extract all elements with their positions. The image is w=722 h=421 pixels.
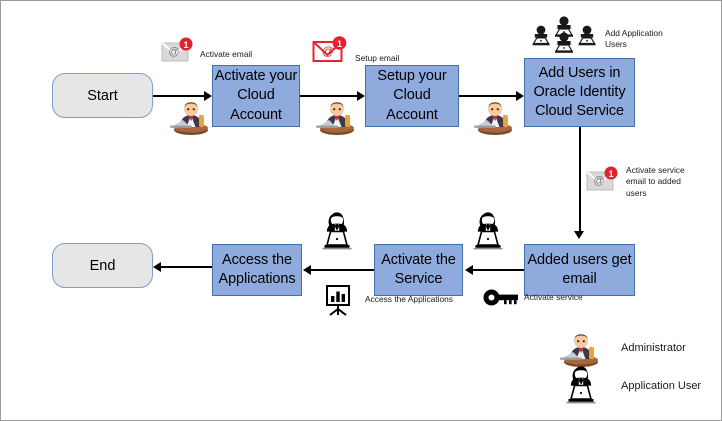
annotation-setup-email-label: Setup email xyxy=(355,53,399,64)
legend-administrator-label: Administrator xyxy=(621,342,686,354)
connector-added-email-to-activate-service xyxy=(473,269,524,271)
application-user-icon-2 xyxy=(468,209,508,251)
svg-text:1: 1 xyxy=(337,39,342,49)
svg-text:@: @ xyxy=(593,175,604,187)
application-user-icon-1 xyxy=(317,209,357,251)
node-access-the-applications-label: Access the Applications xyxy=(213,251,301,289)
annotation-activate-service-email-label: Activate service email to added users xyxy=(626,165,685,199)
node-activate-cloud-account-label: Activate your Cloud Account xyxy=(213,67,299,124)
flowchart-canvas: Start Activate your Cloud Account Setup … xyxy=(0,0,722,421)
node-activate-cloud-account[interactable]: Activate your Cloud Account xyxy=(212,65,300,127)
node-start-label: Start xyxy=(87,88,118,104)
node-activate-the-service-label: Activate the Service xyxy=(375,251,462,289)
envelope-red-badge-icon: @ 1 xyxy=(312,35,348,63)
envelope-grey-badge-icon: @ 1 xyxy=(161,37,195,63)
arrowhead-access-apps-to-end xyxy=(153,262,161,272)
node-added-users-get-email[interactable]: Added users get email xyxy=(524,244,635,296)
annotation-access-the-applications-label: Access the Applications xyxy=(365,294,453,305)
node-end-label: End xyxy=(90,258,116,274)
node-end[interactable]: End xyxy=(52,243,153,288)
legend-application-user-label: Application User xyxy=(621,380,701,392)
node-setup-cloud-account[interactable]: Setup your Cloud Account xyxy=(365,65,459,127)
node-setup-cloud-account-label: Setup your Cloud Account xyxy=(366,67,458,124)
annotation-add-application-users-label: Add Application Users xyxy=(605,28,663,51)
node-added-users-get-email-label: Added users get email xyxy=(525,251,634,289)
svg-text:1: 1 xyxy=(183,40,188,50)
presentation-chart-icon xyxy=(321,283,355,317)
annotation-activate-service-label: Activate service xyxy=(524,292,583,303)
annotation-activate-email-label: Activate email xyxy=(200,49,252,60)
envelope-grey-badge-icon-2: @ 1 xyxy=(586,166,620,192)
node-start[interactable]: Start xyxy=(52,73,153,118)
node-add-users-idcs[interactable]: Add Users in Oracle Identity Cloud Servi… xyxy=(524,58,635,127)
arrowhead-add-users-to-added-email xyxy=(574,231,584,239)
svg-text:1: 1 xyxy=(608,169,613,179)
arrowhead-activate-service-to-access-apps xyxy=(303,265,311,275)
key-icon xyxy=(483,289,519,306)
application-user-icon-legend xyxy=(561,363,601,405)
node-activate-the-service[interactable]: Activate the Service xyxy=(374,244,463,296)
node-add-users-idcs-label: Add Users in Oracle Identity Cloud Servi… xyxy=(525,64,634,121)
connector-access-apps-to-end xyxy=(161,266,212,268)
administrator-icon-2 xyxy=(313,97,361,137)
administrator-icon-1 xyxy=(167,97,215,137)
svg-text:@: @ xyxy=(322,44,334,58)
administrator-icon-3 xyxy=(471,97,519,137)
arrowhead-added-email-to-activate-service xyxy=(465,265,473,275)
connector-add-users-to-added-email xyxy=(579,127,581,231)
svg-text:@: @ xyxy=(168,46,179,58)
node-access-the-applications[interactable]: Access the Applications xyxy=(212,244,302,296)
user-group-icon xyxy=(529,15,599,57)
connector-activate-service-to-access-apps xyxy=(311,269,374,271)
